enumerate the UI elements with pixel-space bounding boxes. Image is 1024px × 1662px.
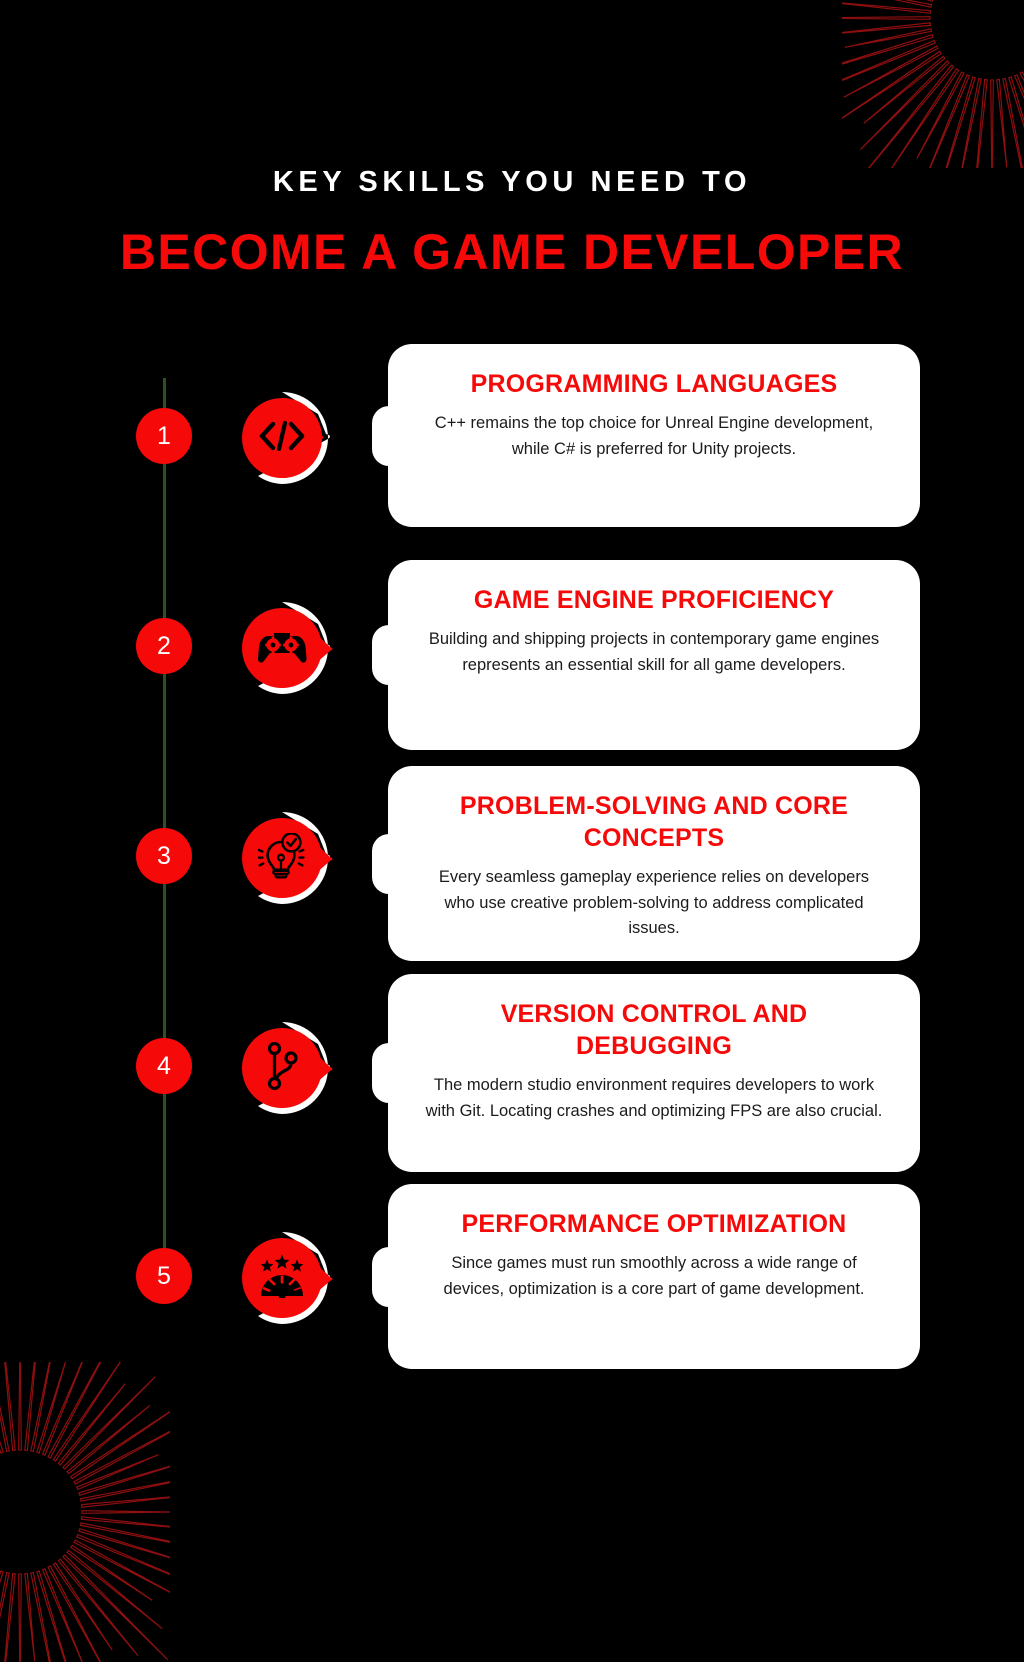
step-body: C++ remains the top choice for Unreal En… <box>422 411 886 462</box>
step-icon-bubble <box>234 810 344 906</box>
step-icon-bubble <box>234 1020 344 1116</box>
step-title: VERSION CONTROL AND DEBUGGING <box>422 998 886 1062</box>
step-number-badge: 5 <box>136 1248 192 1304</box>
step-item: 5 <box>0 1184 1024 1379</box>
gamepad-icon <box>256 620 308 672</box>
step-body: Every seamless gameplay experience relie… <box>422 865 886 942</box>
step-body: Since games must run smoothly across a w… <box>422 1251 886 1302</box>
step-body: The modern studio environment requires d… <box>422 1073 886 1124</box>
step-title: GAME ENGINE PROFICIENCY <box>422 584 886 616</box>
infographic-header: KEY SKILLS YOU NEED TO BECOME A GAME DEV… <box>0 0 1024 277</box>
starburst-bottom-left-icon <box>0 1362 170 1662</box>
step-number-badge: 3 <box>136 828 192 884</box>
step-number-badge: 2 <box>136 618 192 674</box>
step-body: Building and shipping projects in contem… <box>422 627 886 678</box>
step-card: PROBLEM-SOLVING AND CORE CONCEPTS Every … <box>388 766 920 961</box>
step-number-badge: 1 <box>136 408 192 464</box>
code-brackets-icon <box>256 410 308 462</box>
step-item: 4 VERSION CONTROL AND DEBUGGING The mode… <box>0 974 1024 1184</box>
speedometer-stars-icon <box>256 1250 308 1302</box>
step-card: GAME ENGINE PROFICIENCY Building and shi… <box>388 560 920 750</box>
step-number-badge: 4 <box>136 1038 192 1094</box>
step-icon-bubble <box>234 600 344 696</box>
step-icon-bubble <box>234 1230 344 1326</box>
step-card: VERSION CONTROL AND DEBUGGING The modern… <box>388 974 920 1172</box>
page-title: BECOME A GAME DEVELOPER <box>0 227 1024 277</box>
git-branch-icon <box>256 1040 308 1092</box>
steps-timeline: 1 PROGRAMMING LANGUAGES C++ remains the … <box>0 344 1024 1379</box>
header-kicker: KEY SKILLS YOU NEED TO <box>0 168 1024 197</box>
step-item: 3 <box>0 764 1024 974</box>
step-title: PROGRAMMING LANGUAGES <box>422 368 886 400</box>
step-title: PERFORMANCE OPTIMIZATION <box>422 1208 886 1240</box>
step-item: 2 <box>0 554 1024 764</box>
step-card: PERFORMANCE OPTIMIZATION Since games mus… <box>388 1184 920 1369</box>
lightbulb-check-icon <box>256 830 308 882</box>
step-icon-bubble <box>234 390 344 486</box>
step-title: PROBLEM-SOLVING AND CORE CONCEPTS <box>422 790 886 854</box>
step-item: 1 PROGRAMMING LANGUAGES C++ remains the … <box>0 344 1024 554</box>
step-card: PROGRAMMING LANGUAGES C++ remains the to… <box>388 344 920 527</box>
